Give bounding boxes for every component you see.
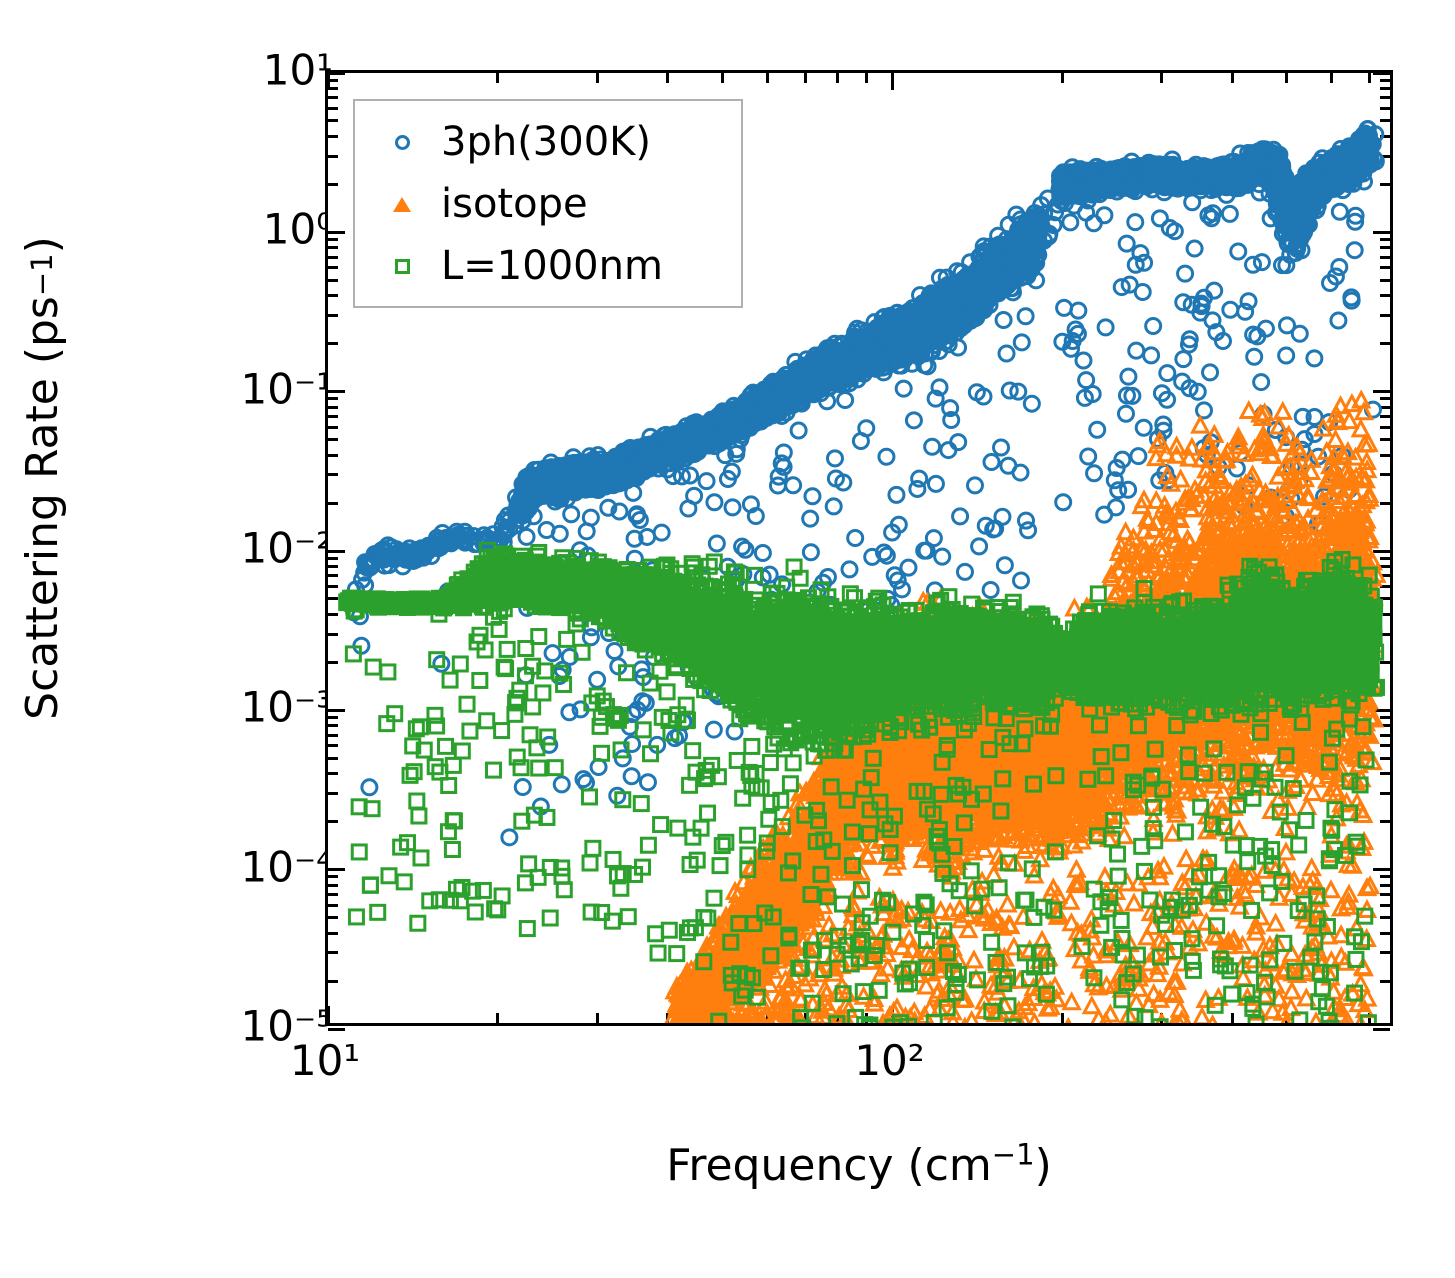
- legend-label-length: L=1000nm: [425, 243, 663, 289]
- legend-label-isotope: isotope: [425, 181, 588, 227]
- x-axis-label-exponent: −1: [992, 1137, 1035, 1171]
- square-marker-icon: [379, 259, 425, 274]
- y-axis-label-tail: ): [17, 236, 68, 253]
- legend-item-length[interactable]: L=1000nm: [355, 235, 741, 297]
- circle-marker-icon: [379, 135, 425, 150]
- y-axis-label-text: Scattering Rate (ps: [17, 296, 68, 720]
- series-l-1000nm: [340, 543, 1384, 1023]
- legend-label-3ph: 3ph(300K): [425, 119, 651, 165]
- y-tick-label: 10⁰: [263, 205, 333, 254]
- x-axis-label: Frequency (cm−1): [325, 1140, 1393, 1191]
- y-tick-label: 10¹: [263, 46, 333, 95]
- tick-mark: [1373, 1028, 1390, 1031]
- y-tick-label: 10⁻⁴: [241, 842, 333, 891]
- x-axis-label-text: Frequency (cm: [666, 1140, 992, 1191]
- legend-item-isotope[interactable]: isotope: [355, 173, 741, 235]
- x-axis-label-tail: ): [1035, 1140, 1052, 1191]
- triangle-marker-icon: [379, 197, 425, 212]
- legend-box[interactable]: 3ph(300K) isotope L=1000nm: [353, 99, 743, 308]
- y-tick-label: 10⁻¹: [241, 364, 333, 413]
- x-tick-label: 10¹: [290, 1036, 360, 1085]
- y-tick-label: 10⁻²: [241, 524, 333, 573]
- plot-axes: 3ph(300K) isotope L=1000nm: [325, 70, 1393, 1026]
- x-tick-label: 10²: [854, 1036, 924, 1085]
- figure-canvas: Scattering Rate (ps−1) Frequency (cm−1) …: [0, 0, 1455, 1278]
- y-tick-label: 10⁻³: [241, 683, 333, 732]
- y-axis-label: Scattering Rate (ps−1): [12, 0, 72, 956]
- legend-item-3ph[interactable]: 3ph(300K): [355, 111, 741, 173]
- tick-mark: [328, 1028, 345, 1031]
